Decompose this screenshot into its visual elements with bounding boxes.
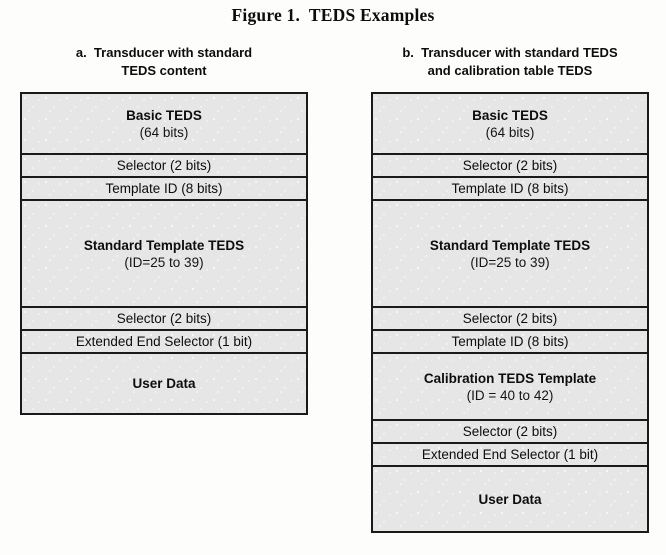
teds-block-user-data: User Data [373,467,647,533]
figure-title: Figure 1. TEDS Examples [0,5,666,26]
teds-block-subtitle: (64 bits) [140,124,189,141]
teds-block-title: Selector (2 bits) [463,310,558,327]
teds-block-calibration-teds-template: Calibration TEDS Template (ID = 40 to 42… [373,354,647,421]
panel-b-caption-line-2: and calibration table TEDS [371,62,649,80]
teds-block-title: Selector (2 bits) [463,423,558,440]
panel-a: a. Transducer with standard TEDS content… [20,44,308,415]
panel-b-caption: b. Transducer with standard TEDS and cal… [371,44,649,84]
teds-block-standard-template-teds: Standard Template TEDS (ID=25 to 39) [22,201,306,308]
teds-block-template-id-2: Template ID (8 bits) [373,331,647,354]
panel-a-caption-line-1: a. Transducer with standard [20,44,308,62]
panel-b-caption-line-1: b. Transducer with standard TEDS [371,44,649,62]
teds-block-title: Extended End Selector (1 bit) [76,333,252,350]
teds-block-title: Template ID (8 bits) [451,333,568,350]
teds-block-extended-end-selector: Extended End Selector (1 bit) [22,331,306,354]
teds-block-subtitle: (ID = 40 to 42) [467,387,554,404]
teds-block-title: Selector (2 bits) [117,310,212,327]
teds-block-basic-teds: Basic TEDS (64 bits) [22,94,306,155]
teds-block-basic-teds: Basic TEDS (64 bits) [373,94,647,155]
teds-block-title: Basic TEDS [126,107,202,124]
teds-block-template-id-1: Template ID (8 bits) [373,178,647,201]
teds-block-selector-2: Selector (2 bits) [22,308,306,331]
teds-block-title: Selector (2 bits) [463,157,558,174]
panel-b: b. Transducer with standard TEDS and cal… [371,44,649,533]
teds-block-selector-1: Selector (2 bits) [373,155,647,178]
panel-a-teds-stack: Basic TEDS (64 bits) Selector (2 bits) T… [20,92,308,415]
figure-panels: a. Transducer with standard TEDS content… [0,44,666,554]
teds-block-subtitle: (64 bits) [486,124,535,141]
panel-a-caption-line-2: TEDS content [20,62,308,80]
teds-block-title: Selector (2 bits) [117,157,212,174]
teds-block-title: User Data [132,375,195,392]
teds-block-template-id-1: Template ID (8 bits) [22,178,306,201]
teds-block-title: Template ID (8 bits) [105,180,222,197]
panel-b-teds-stack: Basic TEDS (64 bits) Selector (2 bits) T… [371,92,649,533]
teds-block-title: Template ID (8 bits) [451,180,568,197]
teds-block-selector-2: Selector (2 bits) [373,308,647,331]
teds-block-selector-1: Selector (2 bits) [22,155,306,178]
teds-block-subtitle: (ID=25 to 39) [470,254,549,271]
teds-block-selector-3: Selector (2 bits) [373,421,647,444]
teds-block-title: Basic TEDS [472,107,548,124]
teds-block-extended-end-selector: Extended End Selector (1 bit) [373,444,647,467]
panel-a-caption: a. Transducer with standard TEDS content [20,44,308,84]
teds-block-subtitle: (ID=25 to 39) [124,254,203,271]
teds-block-standard-template-teds: Standard Template TEDS (ID=25 to 39) [373,201,647,308]
teds-block-user-data: User Data [22,354,306,415]
teds-block-title: Standard Template TEDS [84,237,244,254]
teds-block-title: Standard Template TEDS [430,237,590,254]
teds-block-title: Calibration TEDS Template [424,370,596,387]
teds-block-title: User Data [478,491,541,508]
teds-block-title: Extended End Selector (1 bit) [422,446,598,463]
